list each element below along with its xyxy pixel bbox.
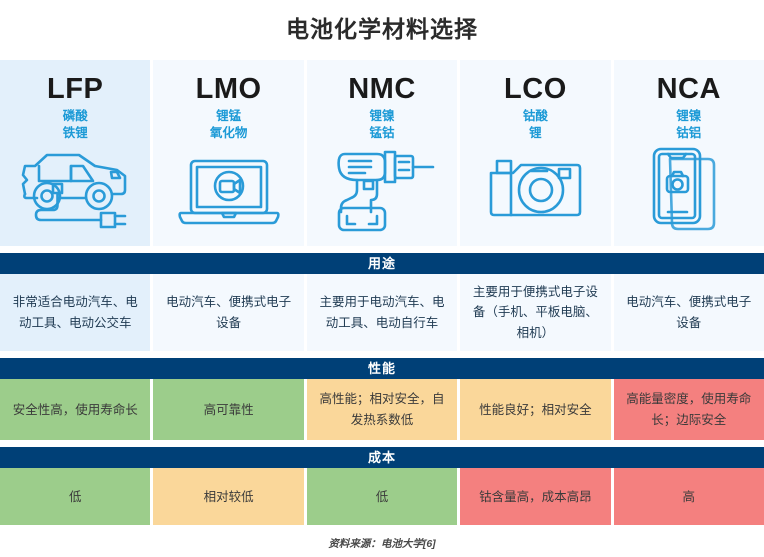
column-name-line2: 铁锂	[63, 126, 88, 140]
column-chinese-name: 磷酸 铁锂	[63, 108, 88, 142]
column-name-line1: 锂镍	[369, 109, 394, 123]
column-abbr: NCA	[657, 74, 721, 104]
column-name-line2: 钴铝	[676, 126, 701, 140]
smartphone-camera-icon	[614, 142, 764, 240]
electric-car-icon	[0, 142, 150, 240]
page-title: 电池化学材料选择	[0, 0, 764, 60]
cell-use-lfp: 非常适合电动汽车、电动工具、电动公交车	[0, 274, 150, 352]
cell-performance-lfp: 安全性高，使用寿命长	[0, 379, 150, 440]
cell-performance-nca: 高能量密度，使用寿命长；边际安全	[614, 379, 764, 440]
column-abbr: NMC	[348, 74, 416, 104]
column-chinese-name: 锂锰 氧化物	[210, 108, 248, 142]
section-band-use: 用途	[0, 253, 764, 274]
cell-cost-nmc: 低	[307, 468, 457, 525]
column-name-line1: 磷酸	[63, 109, 88, 123]
cell-cost-lfp: 低	[0, 468, 150, 525]
column-abbr: LCO	[504, 74, 567, 104]
column-name-line2: 氧化物	[210, 126, 248, 140]
cell-performance-nmc: 高性能；相对安全，自发热系数低	[307, 379, 457, 440]
column-name-line1: 钴酸	[523, 109, 548, 123]
cell-use-nmc: 主要用于电动汽车、电动工具、电动自行车	[307, 274, 457, 352]
cell-performance-lco: 性能良好；相对安全	[460, 379, 610, 440]
power-drill-icon	[307, 142, 457, 240]
cell-performance-lmo: 高可靠性	[153, 379, 303, 440]
laptop-video-icon	[153, 142, 303, 240]
column-abbr: LMO	[196, 74, 262, 104]
source-note: 资料来源：电池大学[6]	[0, 525, 764, 551]
section-band-cost: 成本	[0, 447, 764, 468]
chemistry-columns: LFP 磷酸 铁锂	[0, 60, 764, 246]
column-chinese-name: 钴酸 锂	[523, 108, 548, 142]
column-abbr: LFP	[47, 74, 103, 104]
column-header-nca: NCA 锂镍 钴铝	[614, 60, 764, 246]
infographic-page: 电池化学材料选择 LFP 磷酸 铁锂	[0, 0, 764, 557]
column-name-line1: 锂锰	[216, 109, 241, 123]
cell-cost-lmo: 相对较低	[153, 468, 303, 525]
column-name-line1: 锂镍	[676, 109, 701, 123]
cell-use-lco: 主要用于便携式电子设备（手机、平板电脑、相机）	[460, 274, 610, 352]
cell-use-lmo: 电动汽车、便携式电子设备	[153, 274, 303, 352]
section-row-cost: 低 相对较低 低 钴含量高，成本高昂 高	[0, 468, 764, 525]
cell-cost-nca: 高	[614, 468, 764, 525]
column-header-lfp: LFP 磷酸 铁锂	[0, 60, 150, 246]
section-row-use: 非常适合电动汽车、电动工具、电动公交车 电动汽车、便携式电子设备 主要用于电动汽…	[0, 274, 764, 352]
column-name-line2: 锰钴	[369, 126, 394, 140]
column-chinese-name: 锂镍 钴铝	[676, 108, 701, 142]
column-name-line2: 锂	[529, 126, 542, 140]
column-header-nmc: NMC 锂镍 锰钴	[307, 60, 457, 246]
cell-use-nca: 电动汽车、便携式电子设备	[614, 274, 764, 352]
section-row-performance: 安全性高，使用寿命长 高可靠性 高性能；相对安全，自发热系数低 性能良好；相对安…	[0, 379, 764, 440]
section-band-performance: 性能	[0, 358, 764, 379]
column-header-lco: LCO 钴酸 锂	[460, 60, 610, 246]
camera-icon	[460, 142, 610, 240]
column-chinese-name: 锂镍 锰钴	[369, 108, 394, 142]
cell-cost-lco: 钴含量高，成本高昂	[460, 468, 610, 525]
column-header-lmo: LMO 锂锰 氧化物	[153, 60, 303, 246]
